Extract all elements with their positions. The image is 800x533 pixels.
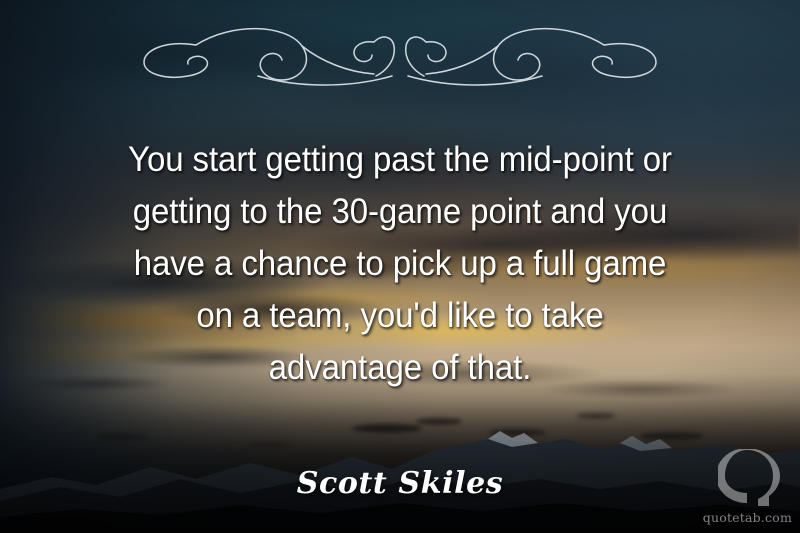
quote-line: advantage of that. xyxy=(60,341,741,393)
quote-text: You start getting past the mid-point or … xyxy=(60,133,741,393)
quote-line: getting to the 30-game point and you xyxy=(60,185,741,237)
quote-line: on a team, you'd like to take xyxy=(60,289,741,341)
watermark[interactable]: quotetab.com xyxy=(696,449,792,527)
quote-card: You start getting past the mid-point or … xyxy=(0,0,800,533)
watermark-text: quotetab.com xyxy=(696,510,792,525)
quotetab-logo-icon xyxy=(718,449,780,507)
quote-line: have a chance to pick up a full game xyxy=(60,237,741,289)
decorative-flourish-ornament xyxy=(100,14,700,92)
author-name: Scott Skiles xyxy=(0,466,800,501)
quote-line: You start getting past the mid-point or xyxy=(60,133,741,185)
